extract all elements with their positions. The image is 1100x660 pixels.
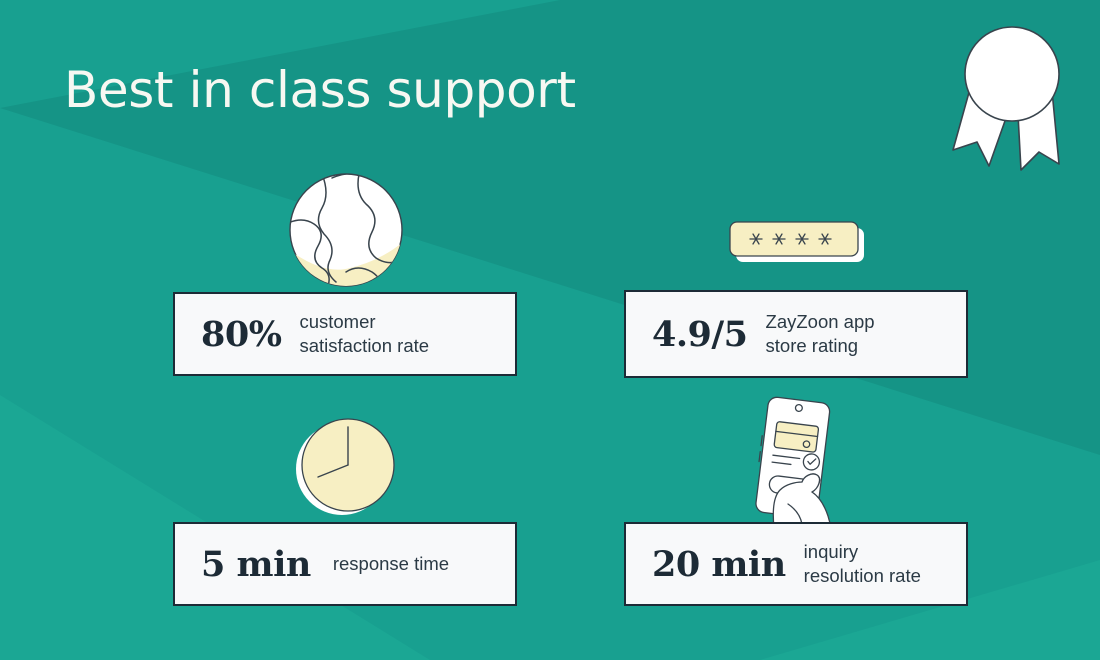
stat-card-app-store-rating: 4.9/5 ZayZoon app store rating [624, 290, 968, 378]
infographic-canvas: Best in class support [0, 0, 1100, 660]
stat-value: 4.9/5 [652, 314, 748, 355]
stat-label: inquiry resolution rate [804, 540, 921, 587]
phone-side-button-1 [761, 436, 762, 446]
stat-card-response-time: 5 min response time [173, 522, 517, 606]
stat-value: 5 min [201, 544, 311, 585]
stat-card-customer-satisfaction: 80% customer satisfaction rate [173, 292, 517, 376]
stat-value: 80% [201, 314, 281, 355]
clock-icon [294, 415, 398, 519]
star-pill [730, 222, 858, 256]
page-title: Best in class support [64, 64, 576, 117]
phone-side-button-2 [759, 452, 760, 462]
stat-card-inquiry-resolution: 20 min inquiry resolution rate [624, 522, 968, 606]
award-rosette-icon [935, 18, 1085, 173]
phone-in-hand-icon [744, 396, 856, 532]
stat-label: customer satisfaction rate [299, 310, 429, 357]
phone-card-chip [803, 441, 810, 448]
stat-label: response time [333, 552, 449, 576]
rosette-medallion [965, 27, 1059, 121]
globe-icon [288, 172, 404, 288]
phone-camera [795, 404, 803, 412]
phone-card [774, 421, 819, 452]
star-rating-icon [726, 220, 872, 268]
stat-label: ZayZoon app store rating [766, 310, 875, 357]
stat-value: 20 min [652, 544, 786, 585]
